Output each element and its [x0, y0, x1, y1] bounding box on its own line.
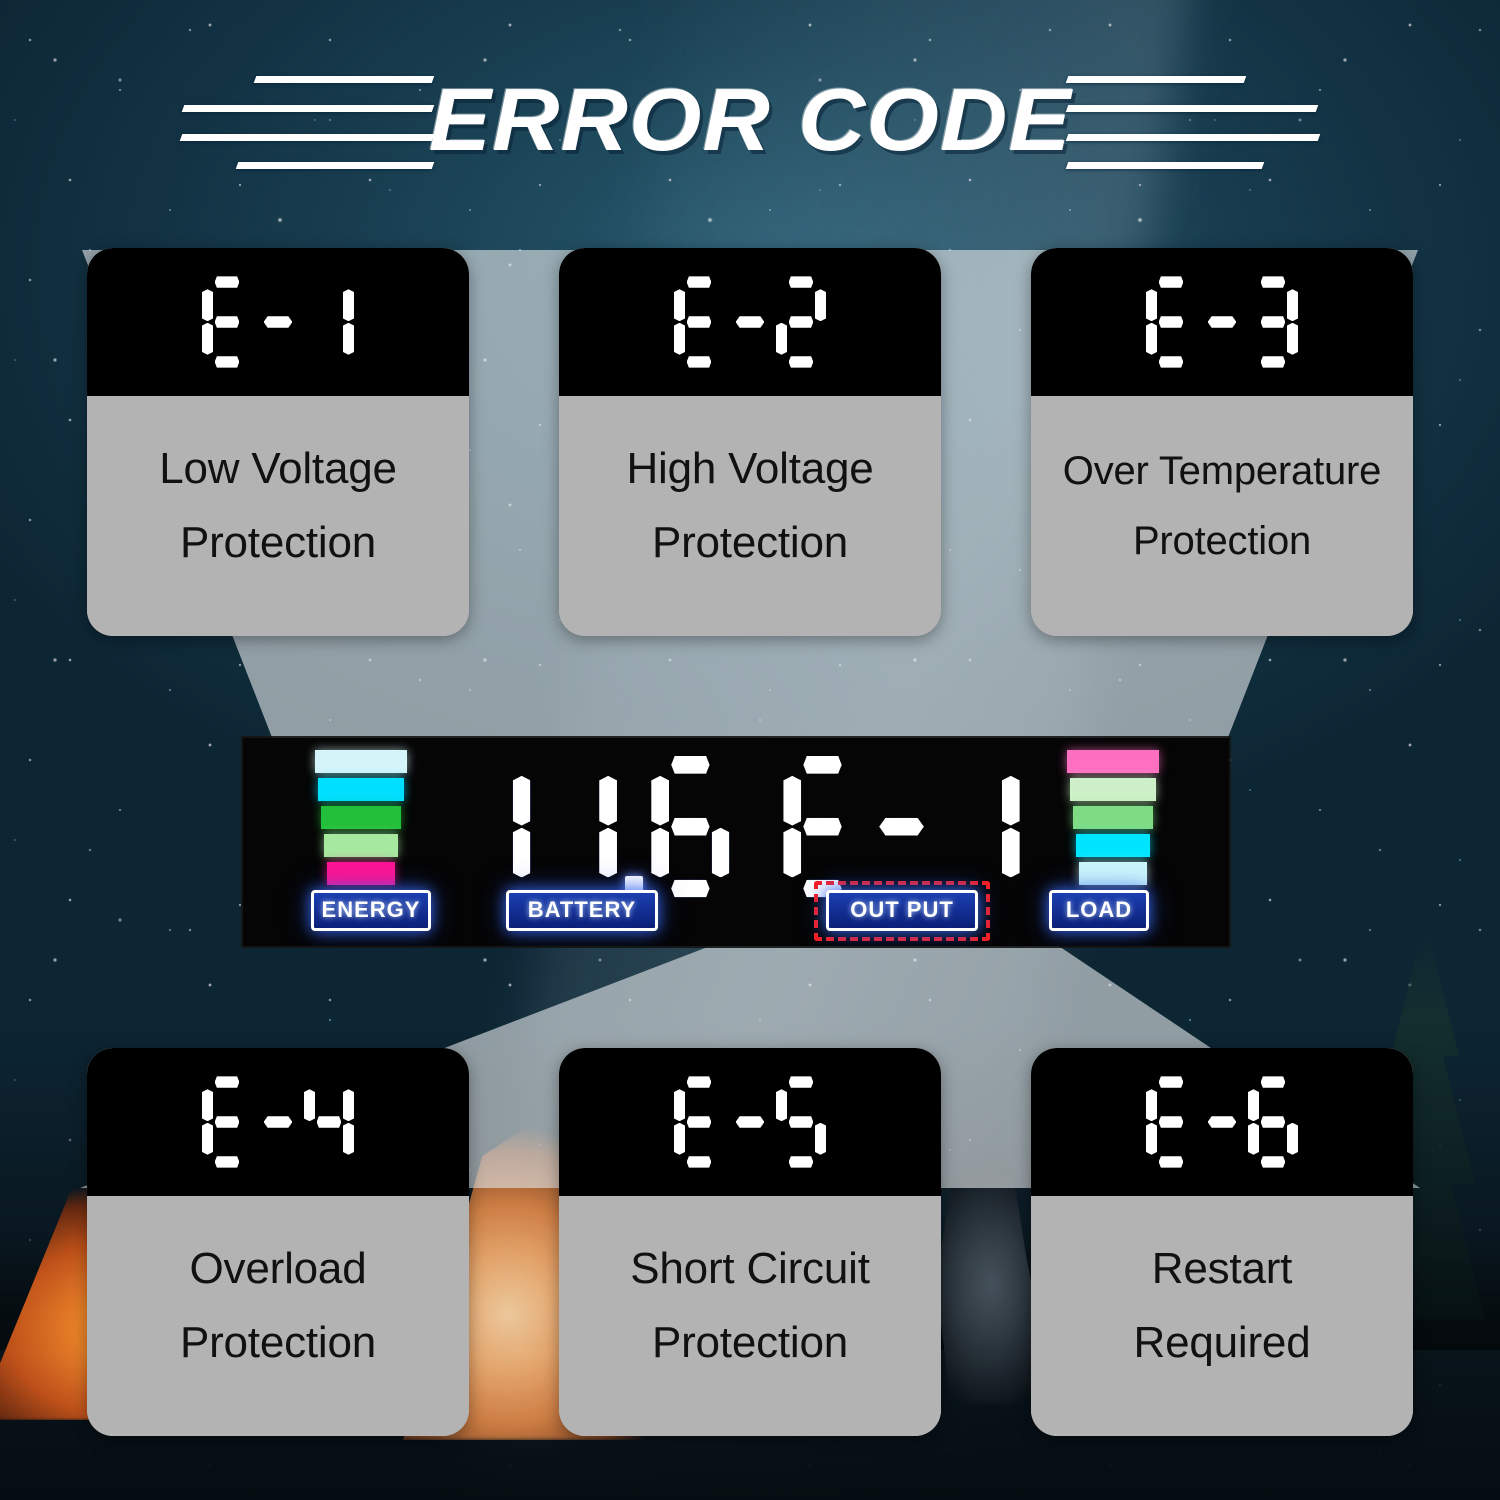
error-card-e1[interactable]: Low Voltage Protection: [87, 248, 469, 636]
error-card-e4[interactable]: Overload Protection: [87, 1048, 469, 1436]
bar-segment: [1079, 862, 1147, 885]
seven-segment-dash: [736, 1116, 765, 1127]
seven-segment-dash: [264, 316, 293, 327]
seven-segment-dash: [264, 1116, 293, 1127]
seven-segment-digit: [1146, 1076, 1196, 1167]
seven-segment-code-e2: [674, 276, 826, 367]
seven-segment-code-e3: [1146, 276, 1298, 367]
error-card-line2: Protection: [180, 521, 376, 565]
seven-segment-digit: [304, 276, 354, 367]
lcd-display-panel[interactable]: ENERGY BATTERY OUT PUT LOAD: [243, 738, 1229, 946]
error-card-line1: Over Temperature: [1063, 451, 1381, 491]
error-card-line1: High Voltage: [626, 447, 873, 491]
error-card-line2: Required: [1134, 1321, 1311, 1365]
lcd-label-row: ENERGY BATTERY OUT PUT LOAD: [243, 890, 1229, 932]
title-speed-lines-left: [165, 70, 433, 170]
load-bargraph: [1067, 750, 1159, 885]
infographic-stage: ERROR CODE Low Voltage Protection High V…: [0, 0, 1500, 1500]
page-title: ERROR CODE: [414, 69, 1087, 171]
error-card-line2: Protection: [652, 521, 848, 565]
error-code-display-e3: [1031, 248, 1413, 396]
seven-segment-code-e4: [202, 1076, 354, 1167]
page-title-row: ERROR CODE: [0, 62, 1500, 177]
seven-segment-digit: [1248, 276, 1298, 367]
bar-segment: [1073, 806, 1153, 829]
bar-segment: [1067, 750, 1159, 773]
error-card-line2: Protection: [180, 1321, 376, 1365]
seven-segment-digit: [776, 1076, 826, 1167]
error-code-display-e1: [87, 248, 469, 396]
error-card-row-top: Low Voltage Protection High Voltage Prot…: [0, 248, 1500, 636]
error-code-display-e6: [1031, 1048, 1413, 1196]
seven-segment-digit: [776, 276, 826, 367]
seven-segment-digit: [202, 1076, 252, 1167]
output-error-readout: [783, 756, 1019, 897]
seven-segment-dash: [1208, 316, 1237, 327]
battery-voltage-readout: [452, 756, 729, 897]
error-card-line2: Protection: [652, 1321, 848, 1365]
seven-segment-digit: [942, 756, 1020, 897]
label-battery[interactable]: BATTERY: [506, 890, 658, 931]
seven-segment-digit: [202, 276, 252, 367]
error-code-display-e4: [87, 1048, 469, 1196]
seven-segment-digit: [674, 276, 724, 367]
seven-segment-dash: [1208, 1116, 1237, 1127]
seven-segment-digit: [1248, 1076, 1298, 1167]
error-card-text-e4: Overload Protection: [87, 1196, 469, 1436]
label-load[interactable]: LOAD: [1049, 890, 1149, 931]
seven-segment-dash: [736, 316, 765, 327]
error-card-text-e1: Low Voltage Protection: [87, 396, 469, 636]
error-card-text-e2: High Voltage Protection: [559, 396, 941, 636]
seven-segment-digit: [452, 756, 530, 897]
seven-segment-digit: [1146, 276, 1196, 367]
error-card-line1: Overload: [190, 1247, 367, 1291]
error-card-text-e3: Over Temperature Protection: [1031, 396, 1413, 636]
seven-segment-digit: [783, 756, 861, 897]
title-speed-lines-right: [1067, 70, 1335, 170]
error-card-line1: Short Circuit: [630, 1247, 869, 1291]
seven-segment-dash: [879, 818, 924, 836]
bar-segment: [1070, 778, 1156, 801]
seven-segment-digit: [651, 756, 729, 897]
error-card-e3[interactable]: Over Temperature Protection: [1031, 248, 1413, 636]
label-energy[interactable]: ENERGY: [311, 890, 431, 931]
error-card-text-e5: Short Circuit Protection: [559, 1196, 941, 1436]
seven-segment-code-e5: [674, 1076, 826, 1167]
error-card-e5[interactable]: Short Circuit Protection: [559, 1048, 941, 1436]
error-card-line1: Low Voltage: [159, 447, 397, 491]
label-output[interactable]: OUT PUT: [826, 890, 978, 931]
seven-segment-code-e1: [202, 276, 354, 367]
error-card-text-e6: Restart Required: [1031, 1196, 1413, 1436]
error-card-e2[interactable]: High Voltage Protection: [559, 248, 941, 636]
error-card-e6[interactable]: Restart Required: [1031, 1048, 1413, 1436]
seven-segment-digit: [674, 1076, 724, 1167]
error-card-line2: Protection: [1133, 521, 1311, 561]
lcd-inner: ENERGY BATTERY OUT PUT LOAD: [243, 738, 1229, 946]
bar-segment: [1076, 834, 1150, 857]
error-card-line1: Restart: [1152, 1247, 1292, 1291]
seven-segment-code-e6: [1146, 1076, 1298, 1167]
seven-segment-digit: [304, 1076, 354, 1167]
error-code-display-e5: [559, 1048, 941, 1196]
seven-segment-digit: [539, 756, 617, 897]
error-card-row-bottom: Overload Protection Short Circuit Protec…: [0, 1048, 1500, 1436]
error-code-display-e2: [559, 248, 941, 396]
